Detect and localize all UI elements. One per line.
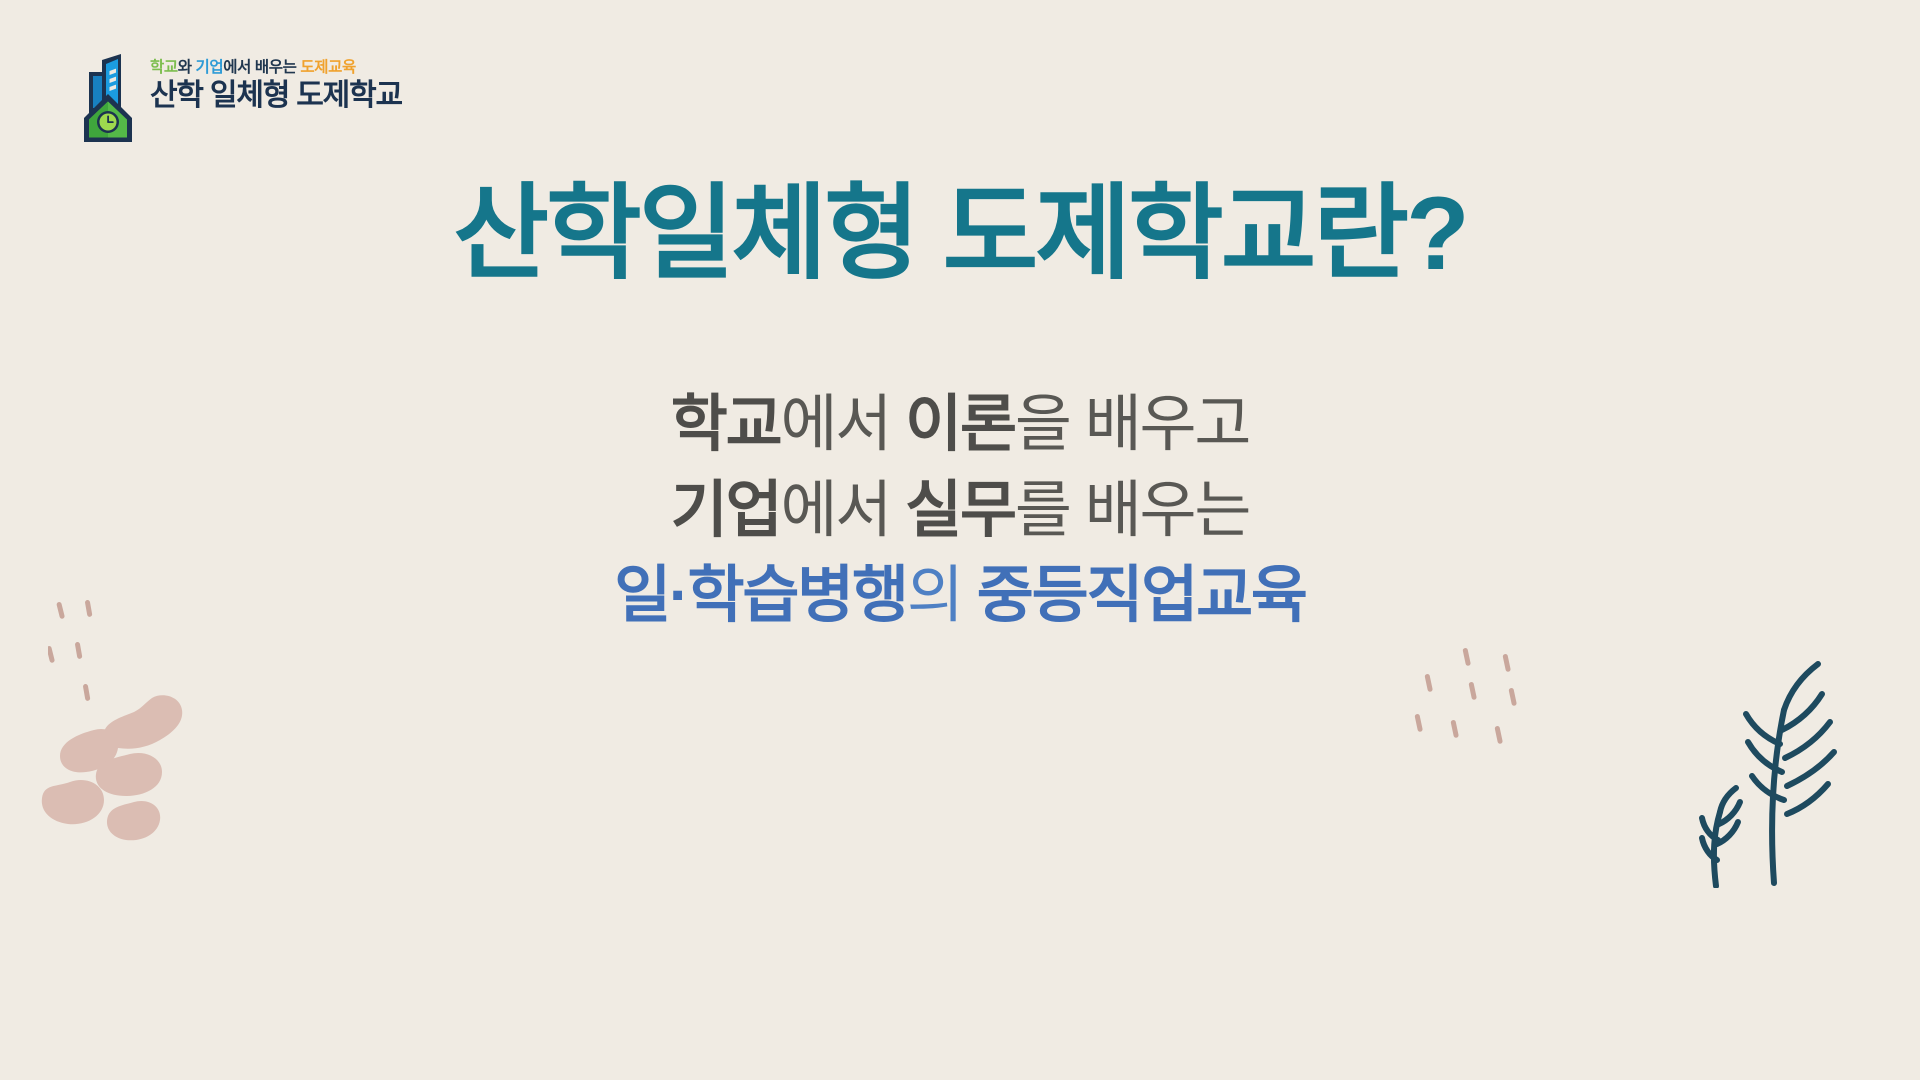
body-copy-line-2-part-2: 실무 <box>905 476 1015 545</box>
navy-wheat-stalk-ornament <box>1686 618 1886 888</box>
pink-blob-ornament <box>34 690 224 870</box>
logo-tagline: 학교와 기업에서 배우는 도제교육 <box>150 60 402 76</box>
logo-tagline-conn1: 와 <box>178 59 196 76</box>
body-copy-line-3-part-0: 일·학습병행 <box>614 561 907 630</box>
body-copy-line-1-part-0: 학교 <box>671 390 781 459</box>
logo-tagline-conn2: 에서 배우는 <box>223 59 300 76</box>
body-copy-line-1-part-2: 이론 <box>905 390 1015 459</box>
body-copy-line-2-part-1: 에서 <box>780 476 905 545</box>
body-copy-line-3-part-2: 중등직업교육 <box>977 561 1306 630</box>
pink-dash-marks <box>1412 648 1542 758</box>
body-copy-line-3-part-1: 의 <box>907 561 977 630</box>
logo-tagline-apprentice: 도제교육 <box>300 59 355 76</box>
body-copy-line-1: 학교에서 이론을 배우고 <box>0 382 1920 468</box>
body-copy-line-3: 일·학습병행의 중등직업교육 <box>0 553 1920 639</box>
logo-tagline-school: 학교 <box>150 59 178 76</box>
body-copy-line-2-part-0: 기업 <box>671 476 781 545</box>
page-title: 산학일체형 도제학교란? <box>0 176 1920 292</box>
brand-logo[interactable]: 학교와 기업에서 배우는 도제교육 산학 일체형 도제학교 <box>78 52 402 144</box>
body-copy-line-2: 기업에서 실무를 배우는 <box>0 468 1920 554</box>
logo-text-group: 학교와 기업에서 배우는 도제교육 산학 일체형 도제학교 <box>150 52 402 111</box>
school-building-clock-icon <box>78 52 140 144</box>
body-copy-line-1-part-1: 에서 <box>780 390 905 459</box>
logo-tagline-company: 기업 <box>196 59 224 76</box>
logo-wordmark: 산학 일체형 도제학교 <box>150 81 402 111</box>
body-copy-line-2-part-3: 를 배우는 <box>1015 476 1249 545</box>
body-copy: 학교에서 이론을 배우고기업에서 실무를 배우는일·학습병행의 중등직업교육 <box>0 382 1920 639</box>
body-copy-line-1-part-3: 을 배우고 <box>1015 390 1249 459</box>
